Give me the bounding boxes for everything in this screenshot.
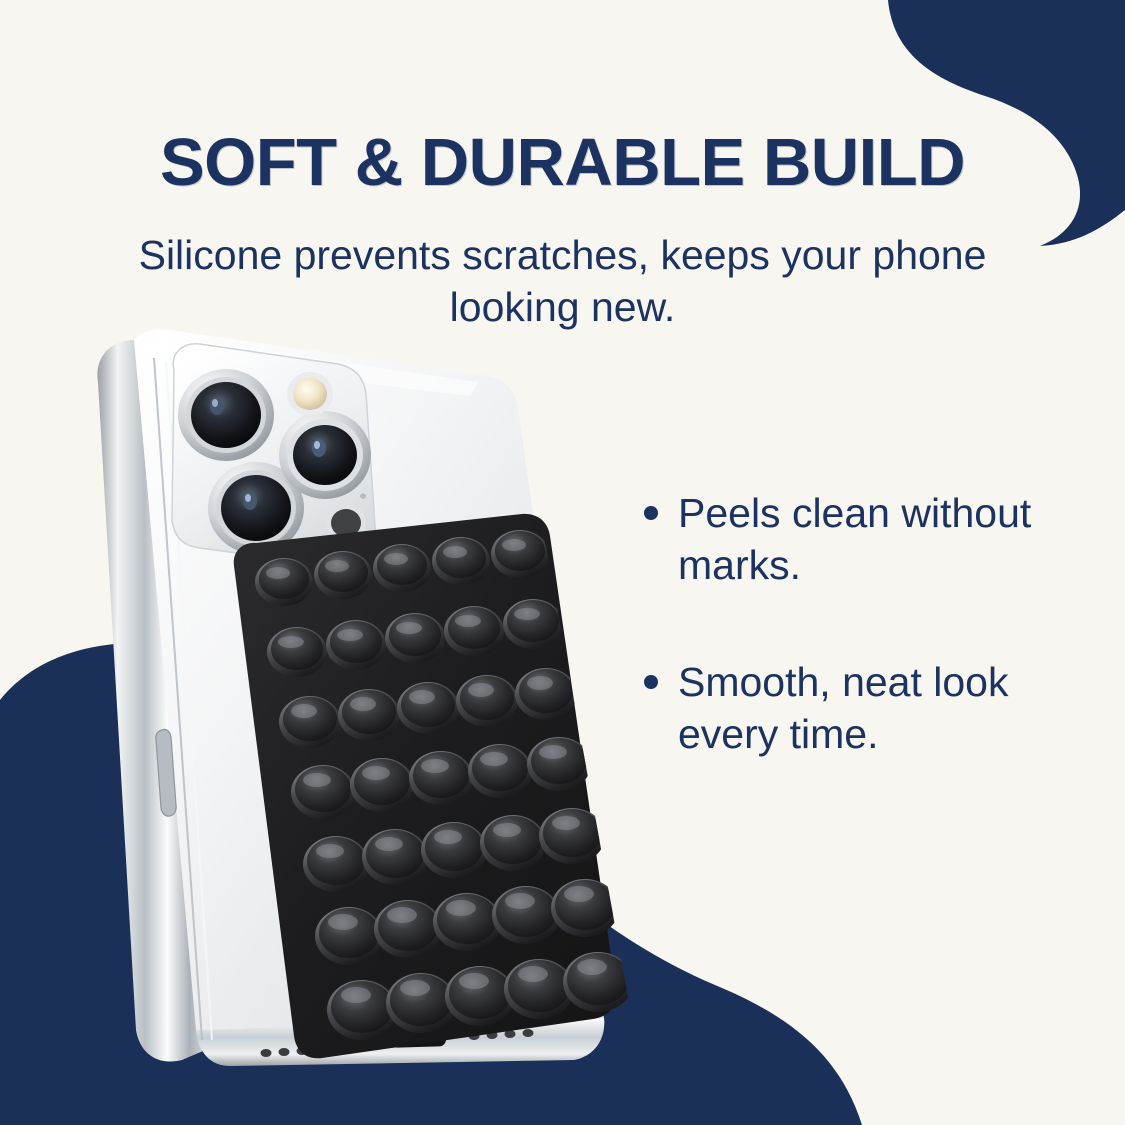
suction-cup — [445, 966, 515, 1026]
suction-cup — [492, 886, 560, 944]
suction-cup — [527, 737, 591, 791]
suction-cup — [409, 751, 473, 805]
camera-flash-icon — [287, 372, 333, 416]
suction-cup — [433, 893, 501, 951]
rear-microphone-dot-icon — [360, 493, 366, 498]
suction-cup — [432, 537, 490, 585]
suction-cup — [515, 668, 577, 720]
suction-cup — [362, 829, 428, 885]
suction-cup — [326, 620, 386, 670]
camera-lens-top-left — [178, 369, 274, 461]
product-image-phone-with-suction-pad — [70, 318, 710, 1078]
suction-cup — [551, 879, 619, 937]
suction-cup — [421, 822, 487, 878]
suction-cup — [563, 952, 633, 1012]
page-headline: SOFT & DURABLE BUILD — [0, 129, 1125, 196]
suction-cup — [468, 744, 532, 798]
suction-cup — [303, 836, 369, 892]
suction-cup — [503, 599, 563, 649]
suction-cup — [456, 675, 518, 727]
feature-text: Peels clean without marks. — [678, 490, 1031, 588]
suction-cup — [291, 765, 355, 819]
camera-lens-right — [279, 411, 371, 499]
suction-cup — [397, 682, 459, 734]
suction-cup — [350, 758, 414, 812]
suction-cup — [327, 980, 397, 1040]
suction-cup — [386, 973, 456, 1033]
suction-cup — [279, 696, 341, 748]
suction-cup — [255, 558, 313, 606]
top-right-wave-blob — [888, 0, 1125, 246]
suction-cup — [374, 900, 442, 958]
promo-canvas: SOFT & DURABLE BUILD Silicone prevents s… — [0, 0, 1125, 1125]
suction-cup — [314, 551, 372, 599]
suction-cup — [338, 689, 400, 741]
suction-cup — [315, 907, 383, 965]
suction-cup — [444, 606, 504, 656]
suction-cup — [373, 544, 431, 592]
suction-cup — [491, 530, 549, 578]
suction-cup — [504, 959, 574, 1019]
feature-text: Smooth, neat look every time. — [678, 659, 1008, 757]
suction-cup — [385, 613, 445, 663]
suction-cup — [480, 815, 546, 871]
suction-cup — [267, 627, 327, 677]
silicone-suction-pad — [234, 514, 633, 1058]
suction-cup — [539, 808, 605, 864]
